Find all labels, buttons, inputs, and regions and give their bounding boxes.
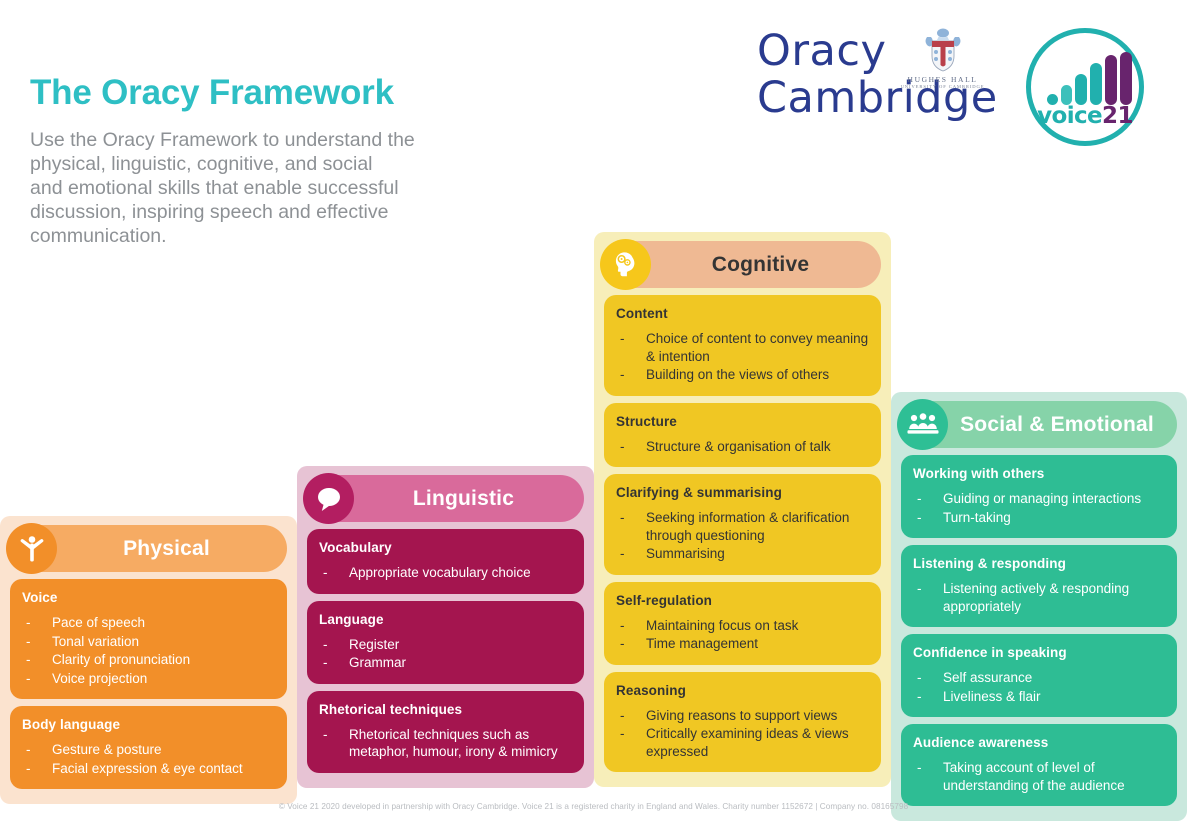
bullet-dash: - (620, 330, 625, 348)
voice21-bars-icon (1047, 52, 1133, 105)
skill-card-heading: Reasoning (616, 683, 869, 698)
skill-card-bullets: -Appropriate vocabulary choice (319, 564, 572, 582)
strand-header-linguistic: Linguistic (307, 475, 584, 522)
skill-card-heading: Content (616, 306, 869, 321)
intro-line-4: communication. (30, 224, 550, 248)
skill-card-heading: Working with others (913, 466, 1165, 481)
intro-line-1: physical, linguistic, cognitive, and soc… (30, 152, 550, 176)
bullet-dash: - (323, 636, 328, 654)
head-with-gears-icon (600, 239, 651, 290)
bullet-dash: - (917, 490, 922, 508)
bullet-dash: - (26, 741, 31, 759)
skill-card-heading: Voice (22, 590, 275, 605)
bullet-dash: - (620, 509, 625, 527)
skill-bullet: -Self assurance (913, 669, 1165, 687)
skill-bullet: -Guiding or managing interactions (913, 490, 1165, 508)
skill-bullet: -Liveliness & flair (913, 688, 1165, 706)
bullet-dash: - (620, 725, 625, 743)
page-title: The Oracy Framework (30, 73, 394, 113)
skill-card: Content-Choice of content to convey mean… (604, 295, 881, 396)
skill-bullet: -Turn-taking (913, 509, 1165, 527)
skill-card-bullets: -Seeking information & clarification thr… (616, 509, 869, 563)
voice21-wordmark: voice21 (1031, 103, 1139, 129)
skill-card: Structure-Structure & organisation of ta… (604, 403, 881, 468)
skill-bullet: -Giving reasons to support views (616, 707, 869, 725)
skill-bullet: -Pace of speech (22, 614, 275, 632)
skill-card: Working with others-Guiding or managing … (901, 455, 1177, 538)
bullet-dash: - (323, 654, 328, 672)
speech-bubble-icon (303, 473, 354, 524)
cards-linguistic: Vocabulary-Appropriate vocabulary choice… (304, 529, 587, 773)
strand-label-social-emotional: Social & Emotional (924, 413, 1154, 437)
skill-card-bullets: -Pace of speech-Tonal variation-Clarity … (22, 614, 275, 687)
bullet-dash: - (620, 438, 625, 456)
bullet-dash: - (323, 726, 328, 744)
skill-bullet: -Voice projection (22, 670, 275, 688)
bullet-dash: - (26, 651, 31, 669)
strand-header-physical: Physical (10, 525, 287, 572)
cards-cognitive: Content-Choice of content to convey mean… (601, 295, 884, 772)
strand-label-cognitive: Cognitive (676, 253, 809, 277)
group-of-people-icon (897, 399, 948, 450)
bullet-dash: - (26, 670, 31, 688)
strand-column-linguistic: Linguistic Vocabulary-Appropriate vocabu… (297, 466, 594, 788)
skill-card-heading: Vocabulary (319, 540, 572, 555)
crest-subtitle: UNIVERSITY OF CAMBRIDGE (895, 84, 990, 89)
intro-line-3: discussion, inspiring speech and effecti… (30, 200, 550, 224)
skill-card: Reasoning-Giving reasons to support view… (604, 672, 881, 773)
bullet-dash: - (26, 633, 31, 651)
skill-card-bullets: -Guiding or managing interactions-Turn-t… (913, 490, 1165, 526)
skill-bullet: -Critically examining ideas & views expr… (616, 725, 869, 760)
skill-bullet: -Taking account of level of understandin… (913, 759, 1165, 794)
skill-card-bullets: -Taking account of level of understandin… (913, 759, 1165, 794)
skill-bullet: -Maintaining focus on task (616, 617, 869, 635)
person-arms-raised-icon (6, 523, 57, 574)
bullet-dash: - (620, 366, 625, 384)
skill-bullet: -Tonal variation (22, 633, 275, 651)
skill-card-heading: Audience awareness (913, 735, 1165, 750)
skill-card-bullets: -Register-Grammar (319, 636, 572, 672)
bullet-dash: - (620, 545, 625, 563)
strand-column-physical: Physical Voice-Pace of speech-Tonal vari… (0, 516, 297, 804)
bullet-dash: - (917, 509, 922, 527)
skill-bullet: -Building on the views of others (616, 366, 869, 384)
bullet-dash: - (620, 617, 625, 635)
skill-card: Clarifying & summarising-Seeking informa… (604, 474, 881, 575)
skill-card-bullets: -Gesture & posture-Facial expression & e… (22, 741, 275, 777)
skill-bullet: -Choice of content to convey meaning & i… (616, 330, 869, 365)
intro-line-2: and emotional skills that enable success… (30, 176, 550, 200)
skill-bullet: -Seeking information & clarification thr… (616, 509, 869, 544)
skill-card: Listening & responding-Listening activel… (901, 545, 1177, 627)
skill-card: Body language-Gesture & posture-Facial e… (10, 706, 287, 789)
skill-card: Audience awareness-Taking account of lev… (901, 724, 1177, 806)
skill-card-bullets: -Self assurance-Liveliness & flair (913, 669, 1165, 705)
voice21-word-voice: voice (1037, 103, 1102, 129)
skill-card-heading: Listening & responding (913, 556, 1165, 571)
bullet-dash: - (26, 614, 31, 632)
skill-card: Rhetorical techniques-Rhetorical techniq… (307, 691, 584, 773)
skill-card-bullets: -Listening actively & responding appropr… (913, 580, 1165, 615)
strand-label-physical: Physical (87, 537, 210, 561)
skill-bullet: -Clarity of pronunciation (22, 651, 275, 669)
skill-card: Vocabulary-Appropriate vocabulary choice (307, 529, 584, 594)
skill-card-heading: Language (319, 612, 572, 627)
skill-card-heading: Confidence in speaking (913, 645, 1165, 660)
skill-bullet: -Summarising (616, 545, 869, 563)
strand-header-social-emotional: Social & Emotional (901, 401, 1177, 448)
footer-copyright: © Voice 21 2020 developed in partnership… (0, 802, 1187, 811)
skill-bullet: -Appropriate vocabulary choice (319, 564, 572, 582)
skill-bullet: -Time management (616, 635, 869, 653)
skill-card: Self-regulation-Maintaining focus on tas… (604, 582, 881, 665)
strand-column-social-emotional: Social & Emotional Working with others-G… (891, 392, 1187, 821)
skill-card-heading: Rhetorical techniques (319, 702, 572, 717)
crest-name: HUGHES HALL (895, 75, 990, 84)
skill-card-bullets: -Choice of content to convey meaning & i… (616, 330, 869, 384)
bullet-dash: - (620, 707, 625, 725)
skill-card-bullets: -Rhetorical techniques such as metaphor,… (319, 726, 572, 761)
voice21-word-21: 21 (1102, 103, 1133, 129)
bullet-dash: - (917, 580, 922, 598)
strand-label-linguistic: Linguistic (377, 487, 514, 511)
bullet-dash: - (620, 635, 625, 653)
skill-card-bullets: -Giving reasons to support views-Critica… (616, 707, 869, 761)
skill-card-bullets: -Structure & organisation of talk (616, 438, 869, 456)
skill-bullet: -Rhetorical techniques such as metaphor,… (319, 726, 572, 761)
intro-paragraph: Use the Oracy Framework to understand th… (30, 128, 550, 248)
skill-card: Voice-Pace of speech-Tonal variation-Cla… (10, 579, 287, 699)
strand-header-cognitive: Cognitive (604, 241, 881, 288)
hughes-hall-crest: HUGHES HALL UNIVERSITY OF CAMBRIDGE (895, 28, 990, 98)
skill-card-heading: Self-regulation (616, 593, 869, 608)
bullet-dash: - (26, 760, 31, 778)
skill-bullet: -Structure & organisation of talk (616, 438, 869, 456)
skill-card-heading: Clarifying & summarising (616, 485, 869, 500)
oracy-framework-poster: The Oracy Framework Use the Oracy Framew… (0, 0, 1187, 820)
skill-card-heading: Structure (616, 414, 869, 429)
strand-column-cognitive: Cognitive Content-Choice of content to c… (594, 232, 891, 787)
skill-bullet: -Listening actively & responding appropr… (913, 580, 1165, 615)
skill-bullet: -Facial expression & eye contact (22, 760, 275, 778)
skill-card-bullets: -Maintaining focus on task-Time manageme… (616, 617, 869, 653)
skill-bullet: -Gesture & posture (22, 741, 275, 759)
cards-physical: Voice-Pace of speech-Tonal variation-Cla… (7, 579, 290, 789)
skill-bullet: -Register (319, 636, 572, 654)
bullet-dash: - (917, 688, 922, 706)
intro-line-0: Use the Oracy Framework to understand th… (30, 128, 550, 152)
bullet-dash: - (917, 759, 922, 777)
skill-card: Language-Register-Grammar (307, 601, 584, 684)
voice21-logo: voice21 (1026, 28, 1144, 146)
crest-shield-icon (921, 28, 965, 74)
cards-social-emotional: Working with others-Guiding or managing … (898, 455, 1180, 806)
skill-card: Confidence in speaking-Self assurance-Li… (901, 634, 1177, 717)
bullet-dash: - (917, 669, 922, 687)
skill-card-heading: Body language (22, 717, 275, 732)
bullet-dash: - (323, 564, 328, 582)
skill-bullet: -Grammar (319, 654, 572, 672)
